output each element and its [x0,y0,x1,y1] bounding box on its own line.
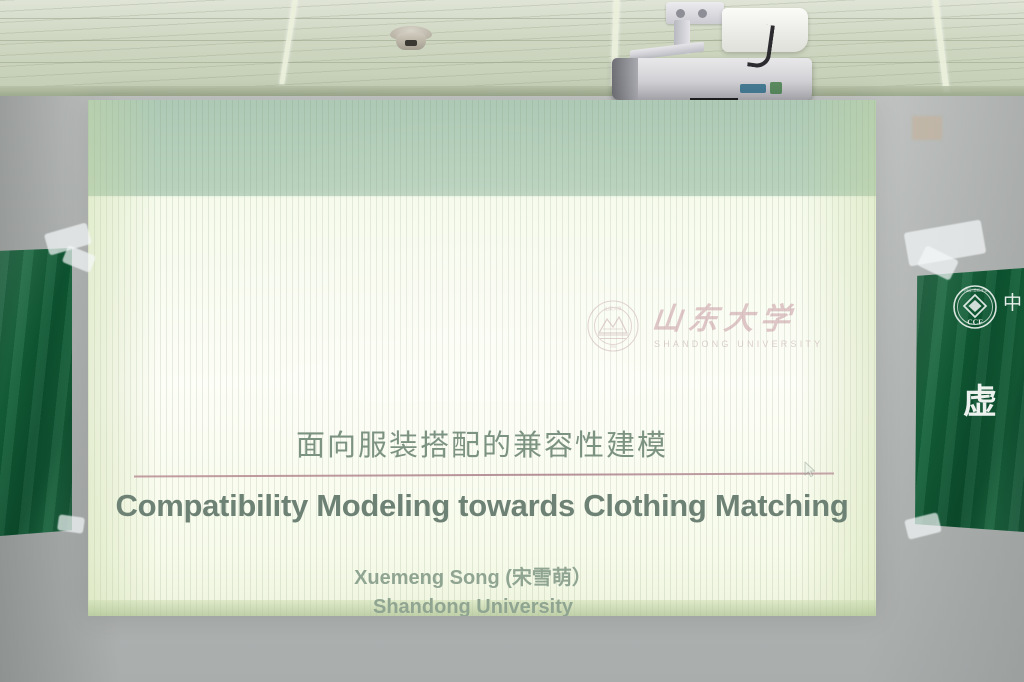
smoke-detector-icon [390,26,432,52]
projector-indicator [740,84,766,93]
ceiling-projector [604,2,819,100]
ccf-logo-icon: CCF 中国计算机学会 [952,284,998,330]
slide-title-english: Compatibility Modeling towards Clothing … [88,488,876,524]
tape-strip [57,514,85,533]
screenshot-stage: 山東大學 1901 山东大学 SHANDONG UNIVERSITY 面向服装搭… [0,0,1024,682]
ceiling-seam [0,62,1024,63]
ceiling-seam [0,40,1024,41]
svg-text:山東大學: 山東大學 [605,305,622,312]
svg-text:中国计算机学会: 中国计算机学会 [962,288,988,293]
mouse-cursor-icon [804,461,817,478]
ceiling-slat-texture [0,0,1024,96]
ceiling [0,0,1024,96]
ceiling-wall-edge [0,86,1024,96]
logo-chinese-name: 山东大学 [650,303,825,337]
projector-body [612,58,812,100]
ceiling-seam [0,18,1024,19]
shandong-university-emblem-icon: 山東大學 1901 [586,299,640,353]
banner-sheen [0,248,72,536]
audience-silhouettes [0,532,1024,682]
banner-text-main: 虚 [963,374,1001,423]
green-banner-left [0,248,72,536]
title-divider [134,472,834,477]
banner-text-top-partial: 中 [1003,288,1022,315]
logo-english-name: SHANDONG UNIVERSITY [652,339,823,349]
projector-indicator [770,82,782,94]
slide-title-chinese: 面向服装搭配的兼容性建模 [88,422,876,464]
svg-text:1901: 1901 [609,345,616,349]
svg-text:CCF: CCF [967,318,983,327]
wall-patch-mark [912,116,942,140]
university-logo: 山東大學 1901 山东大学 SHANDONG UNIVERSITY [586,290,838,362]
projector-body-shadow [612,58,638,100]
